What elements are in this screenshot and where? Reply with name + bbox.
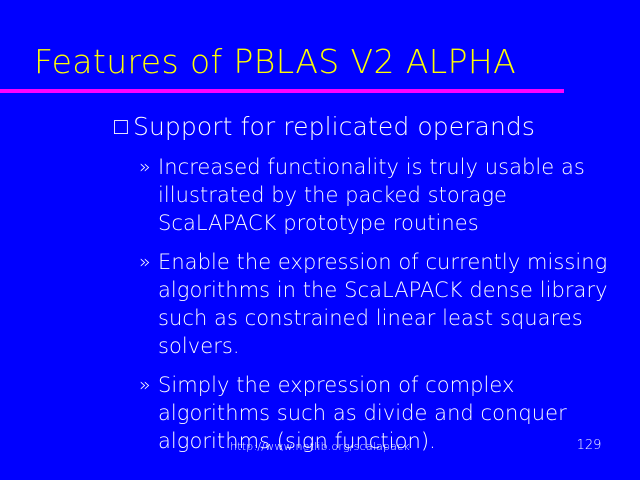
bullet-level1: □ Support for replicated operands — [0, 112, 640, 142]
bullet-level2-label: Enable the expression of currently missi… — [158, 250, 608, 358]
chevron-bullet-icon: » — [139, 371, 151, 399]
title-divider — [0, 89, 564, 93]
presentation-slide: Features of PBLAS V2 ALPHA □ Support for… — [0, 0, 640, 480]
bullet-level1-label: Support for replicated operands — [133, 112, 535, 141]
chevron-bullet-icon: » — [139, 248, 151, 276]
page-title: Features of PBLAS V2 ALPHA — [34, 42, 516, 82]
chevron-bullet-icon: » — [139, 153, 151, 181]
page-number: 129 — [560, 438, 618, 454]
bullet-level2: » Increased functionality is truly usabl… — [0, 153, 640, 237]
bullet-level2-label: Increased functionality is truly usable … — [158, 155, 585, 235]
slide-body: □ Support for replicated operands » Incr… — [0, 112, 640, 455]
bullet-level2: » Enable the expression of currently mis… — [0, 248, 640, 360]
footer-url[interactable]: http://www.netlib.org/scalapack — [0, 440, 640, 454]
square-bullet-icon: □ — [114, 112, 128, 142]
